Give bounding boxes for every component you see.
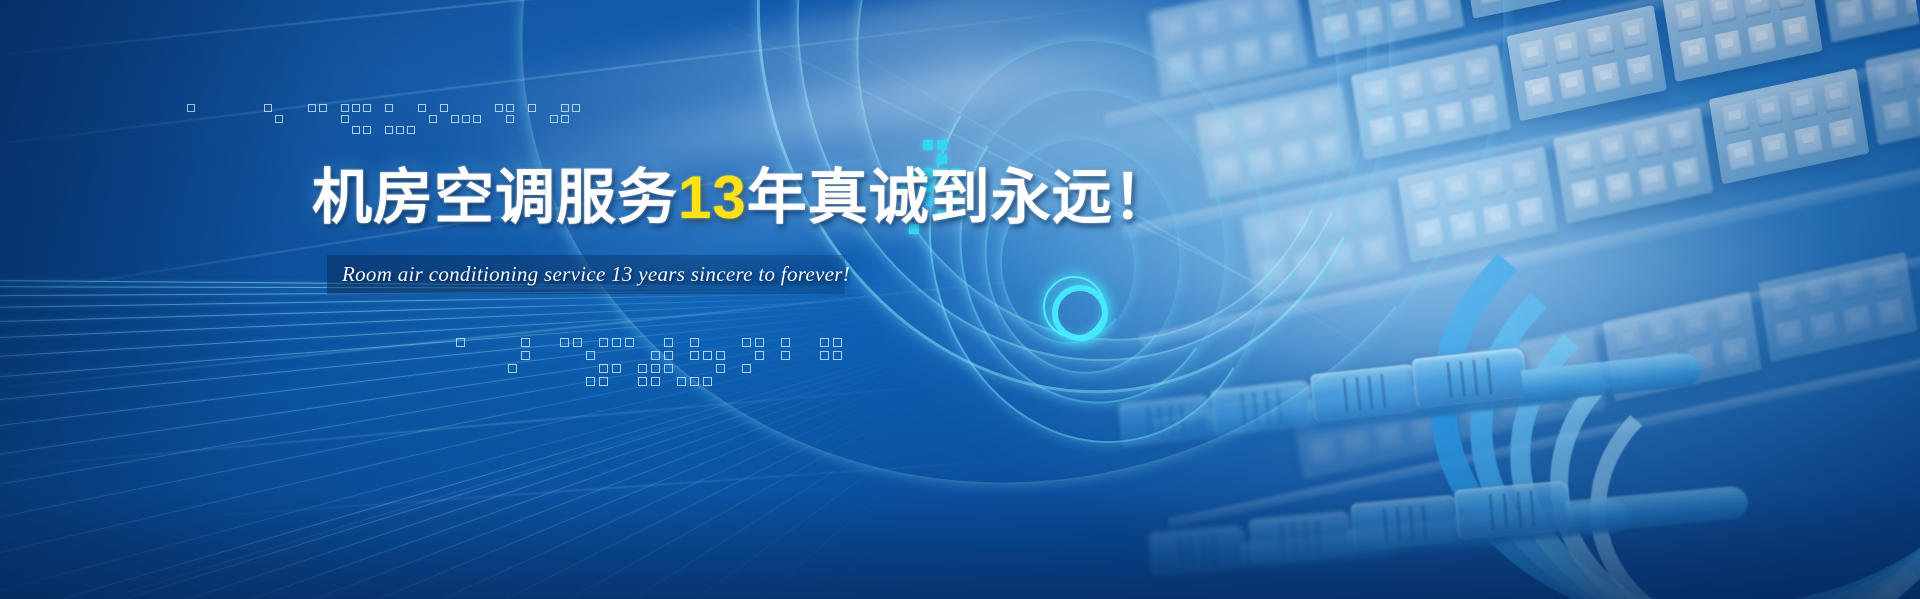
hero-banner: 机房空调服务13年真诚到永远！ Room air conditioning se…: [0, 0, 1920, 599]
vignette: [0, 0, 1920, 599]
